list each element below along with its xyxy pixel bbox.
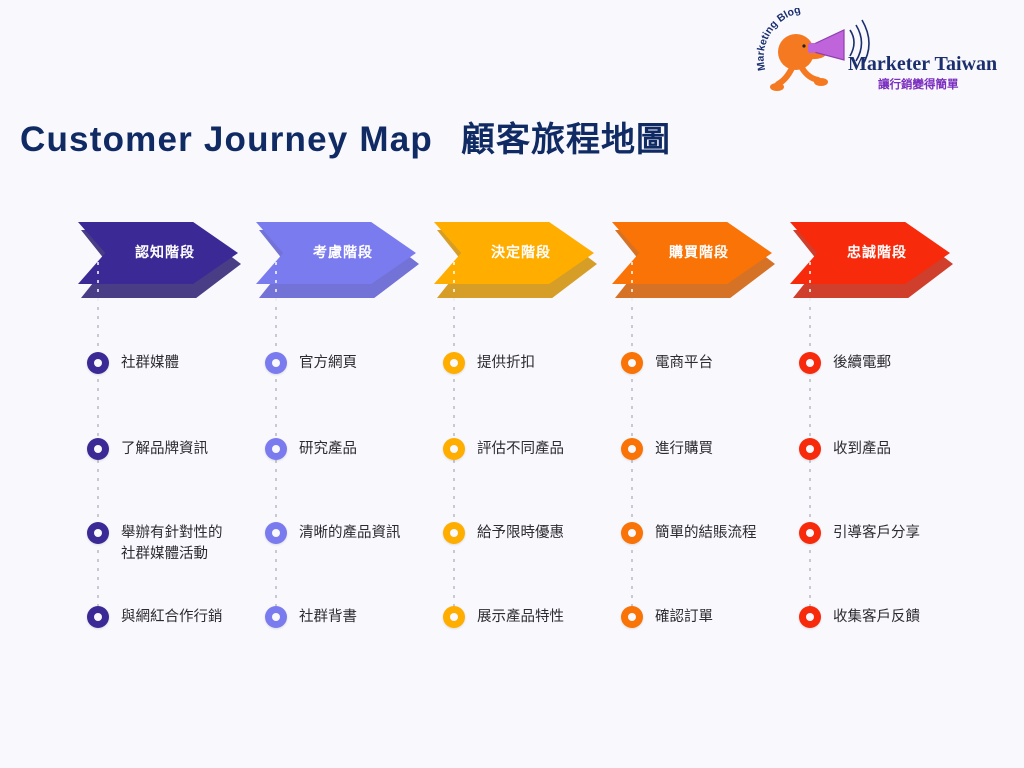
stage-banner-decision[interactable]: 決定階段: [434, 222, 594, 290]
journey-item-label: 收到產品: [833, 439, 891, 460]
journey-item[interactable]: 官方網頁: [256, 352, 357, 374]
stage-banner-consideration[interactable]: 考慮階段: [256, 222, 416, 290]
journey-item-bullet-icon: [265, 352, 287, 374]
journey-item-label: 社群媒體: [121, 353, 179, 374]
stage-banner-awareness[interactable]: 認知階段: [78, 222, 238, 290]
journey-item-bullet-icon: [443, 352, 465, 374]
journey-item[interactable]: 收到產品: [790, 438, 891, 460]
journey-board: 認知階段社群媒體了解品牌資訊舉辦有針對性的 社群媒體活動與網紅合作行銷考慮階段官…: [0, 0, 1024, 768]
stage-connector-dots-inner: [631, 262, 633, 304]
stage-column-decision: 決定階段提供折扣評估不同產品給予限時優惠展示產品特性: [434, 222, 612, 290]
journey-item-bullet-icon: [621, 522, 643, 544]
stage-column-awareness: 認知階段社群媒體了解品牌資訊舉辦有針對性的 社群媒體活動與網紅合作行銷: [78, 222, 256, 290]
stage-banner-purchase[interactable]: 購買階段: [612, 222, 772, 290]
journey-item-bullet-icon: [265, 522, 287, 544]
stage-column-loyalty: 忠誠階段後續電郵收到產品引導客戶分享收集客戶反饋: [790, 222, 968, 290]
journey-item[interactable]: 評估不同產品: [434, 438, 564, 460]
journey-item-label: 簡單的結賬流程: [655, 523, 757, 544]
stage-connector-dots-inner: [97, 262, 99, 304]
stage-column-consideration: 考慮階段官方網頁研究產品清晰的產品資訊社群背書: [256, 222, 434, 290]
stage-banner-label: 考慮階段: [313, 242, 373, 262]
journey-item[interactable]: 引導客戶分享: [790, 522, 920, 544]
journey-item-bullet-icon: [621, 352, 643, 374]
journey-item-bullet-icon: [443, 522, 465, 544]
journey-item-label: 了解品牌資訊: [121, 439, 208, 460]
stage-connector-dots-inner: [453, 262, 455, 304]
journey-item[interactable]: 清晰的產品資訊: [256, 522, 401, 544]
journey-item[interactable]: 收集客戶反饋: [790, 606, 920, 628]
journey-item[interactable]: 給予限時優惠: [434, 522, 564, 544]
journey-item[interactable]: 了解品牌資訊: [78, 438, 208, 460]
stage-banner-loyalty[interactable]: 忠誠階段: [790, 222, 950, 290]
journey-item-bullet-icon: [621, 438, 643, 460]
stage-banner-label: 忠誠階段: [847, 242, 907, 262]
journey-item-label: 清晰的產品資訊: [299, 523, 401, 544]
journey-item-label: 給予限時優惠: [477, 523, 564, 544]
journey-item[interactable]: 社群媒體: [78, 352, 179, 374]
journey-item-label: 後續電郵: [833, 353, 891, 374]
stage-banner-label: 認知階段: [135, 242, 195, 262]
journey-item-bullet-icon: [265, 606, 287, 628]
journey-item-label: 官方網頁: [299, 353, 357, 374]
journey-item-bullet-icon: [799, 438, 821, 460]
journey-item-label: 提供折扣: [477, 353, 535, 374]
journey-item[interactable]: 舉辦有針對性的 社群媒體活動: [78, 522, 223, 565]
journey-item-label: 收集客戶反饋: [833, 607, 920, 628]
stage-banner-label: 購買階段: [669, 242, 729, 262]
journey-item-label: 確認訂單: [655, 607, 713, 628]
journey-item-label: 展示產品特性: [477, 607, 564, 628]
journey-item[interactable]: 提供折扣: [434, 352, 535, 374]
journey-item[interactable]: 進行購買: [612, 438, 713, 460]
stage-connector-dots-inner: [809, 262, 811, 304]
journey-item-bullet-icon: [87, 606, 109, 628]
journey-item-bullet-icon: [799, 522, 821, 544]
journey-item-bullet-icon: [87, 522, 109, 544]
journey-item-bullet-icon: [799, 606, 821, 628]
journey-item[interactable]: 確認訂單: [612, 606, 713, 628]
journey-item-bullet-icon: [265, 438, 287, 460]
journey-item-label: 進行購買: [655, 439, 713, 460]
journey-item-label: 研究產品: [299, 439, 357, 460]
journey-item-label: 社群背書: [299, 607, 357, 628]
journey-item-label: 電商平台: [655, 353, 713, 374]
journey-item-label: 引導客戶分享: [833, 523, 920, 544]
journey-item[interactable]: 展示產品特性: [434, 606, 564, 628]
journey-item-label: 與網紅合作行銷: [121, 607, 223, 628]
journey-item-bullet-icon: [443, 606, 465, 628]
stage-connector-dots-inner: [275, 262, 277, 304]
stage-banner-label: 決定階段: [491, 242, 551, 262]
journey-item[interactable]: 簡單的結賬流程: [612, 522, 757, 544]
journey-item-bullet-icon: [621, 606, 643, 628]
journey-item[interactable]: 後續電郵: [790, 352, 891, 374]
journey-item-label: 舉辦有針對性的 社群媒體活動: [121, 523, 223, 565]
journey-item-bullet-icon: [799, 352, 821, 374]
journey-item-bullet-icon: [443, 438, 465, 460]
journey-item[interactable]: 研究產品: [256, 438, 357, 460]
stage-column-purchase: 購買階段電商平台進行購買簡單的結賬流程確認訂單: [612, 222, 790, 290]
journey-item-label: 評估不同產品: [477, 439, 564, 460]
journey-item[interactable]: 與網紅合作行銷: [78, 606, 223, 628]
journey-item-bullet-icon: [87, 352, 109, 374]
journey-item[interactable]: 電商平台: [612, 352, 713, 374]
journey-item-bullet-icon: [87, 438, 109, 460]
journey-item[interactable]: 社群背書: [256, 606, 357, 628]
